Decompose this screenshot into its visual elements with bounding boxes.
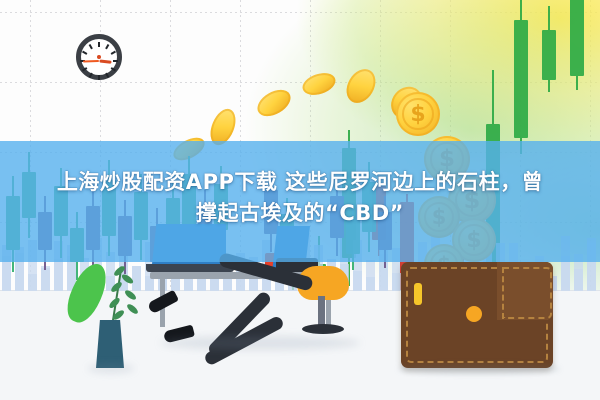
coin-symbol: $ xyxy=(396,92,440,136)
wallet-flap-stitching xyxy=(502,267,552,319)
headline-line-2: 撑起古埃及的“CBD” xyxy=(0,198,600,229)
clock-tick xyxy=(89,73,93,78)
clock-tick xyxy=(111,67,116,71)
clock-tick xyxy=(82,51,87,55)
wallet-card-tab xyxy=(414,283,422,305)
gold-coin: $ xyxy=(396,92,440,136)
wallet-button xyxy=(466,306,482,322)
clock-tick xyxy=(89,44,93,49)
clock-tick xyxy=(98,75,100,80)
clock-tick xyxy=(111,51,116,55)
plant-vase xyxy=(96,320,124,368)
plant-shadow xyxy=(88,364,134,373)
clock-center-dot xyxy=(97,55,101,59)
headline-line-1: 上海炒股配资APP下载 这些尼罗河边上的石柱，曾 xyxy=(0,167,600,198)
clock-tick xyxy=(105,73,109,78)
clock-tick xyxy=(113,60,118,62)
chair-base xyxy=(302,324,344,334)
wallet-shadow xyxy=(398,364,560,374)
clock-hour-hand xyxy=(99,60,111,64)
desk-shadow xyxy=(160,336,360,350)
clock-tick xyxy=(82,67,87,71)
clock-minute-hand xyxy=(83,60,99,63)
banner-image: $$$$$$ xyxy=(0,0,600,400)
headline: 上海炒股配资APP下载 这些尼罗河边上的石柱，曾 撑起古埃及的“CBD” xyxy=(0,167,600,229)
clock-tick xyxy=(105,44,109,49)
clock-tick xyxy=(98,42,100,47)
wall-clock xyxy=(76,34,122,80)
